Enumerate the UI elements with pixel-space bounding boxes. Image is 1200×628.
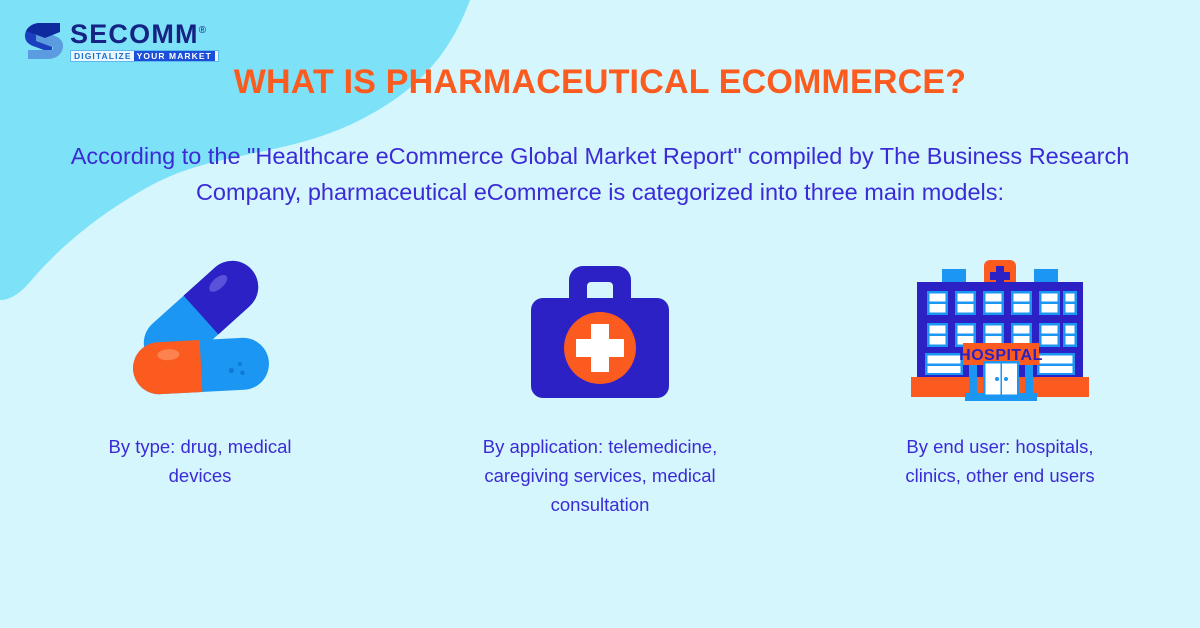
logo-tagline: DIGITALIZE YOUR MARKET — [70, 50, 219, 62]
logo-wordmark: SECOMM® — [70, 21, 219, 48]
logo-brand-name: SECOMM — [70, 19, 199, 49]
card-icon-wrapper: HOSPITAL — [905, 250, 1095, 410]
logo-tagline-part2: YOUR MARKET — [134, 51, 215, 61]
card-caption: By end user: hospitals, clinics, other e… — [880, 432, 1120, 490]
registered-trademark-icon: ® — [199, 25, 206, 36]
infographic-canvas: SECOMM® DIGITALIZE YOUR MARKET WHAT IS P… — [0, 0, 1200, 628]
secomm-logo[interactable]: SECOMM® DIGITALIZE YOUR MARKET — [22, 17, 222, 65]
page-title: WHAT IS PHARMACEUTICAL ECOMMERCE? — [0, 63, 1200, 102]
secomm-s-logo-icon — [22, 19, 66, 63]
card-by-application: By application: telemedicine, caregiving… — [400, 250, 800, 519]
card-by-end-user: HOSPITAL By end user: hospitals, clinics… — [800, 250, 1200, 519]
card-by-type: By type: drug, medical devices — [0, 250, 400, 519]
card-caption: By application: telemedicine, caregiving… — [455, 432, 745, 519]
card-caption: By type: drug, medical devices — [80, 432, 320, 490]
logo-text-block: SECOMM® DIGITALIZE YOUR MARKET — [70, 21, 219, 62]
intro-paragraph: According to the "Healthcare eCommerce G… — [60, 138, 1140, 210]
model-cards-row: By type: drug, medical devices By applic… — [0, 250, 1200, 519]
pill-capsules-icon — [113, 253, 288, 408]
card-icon-wrapper — [113, 250, 288, 410]
medical-bag-icon — [525, 258, 675, 403]
hospital-building-icon: HOSPITAL — [905, 255, 1095, 405]
logo-tagline-part1: DIGITALIZE — [71, 51, 134, 61]
card-icon-wrapper — [525, 250, 675, 410]
